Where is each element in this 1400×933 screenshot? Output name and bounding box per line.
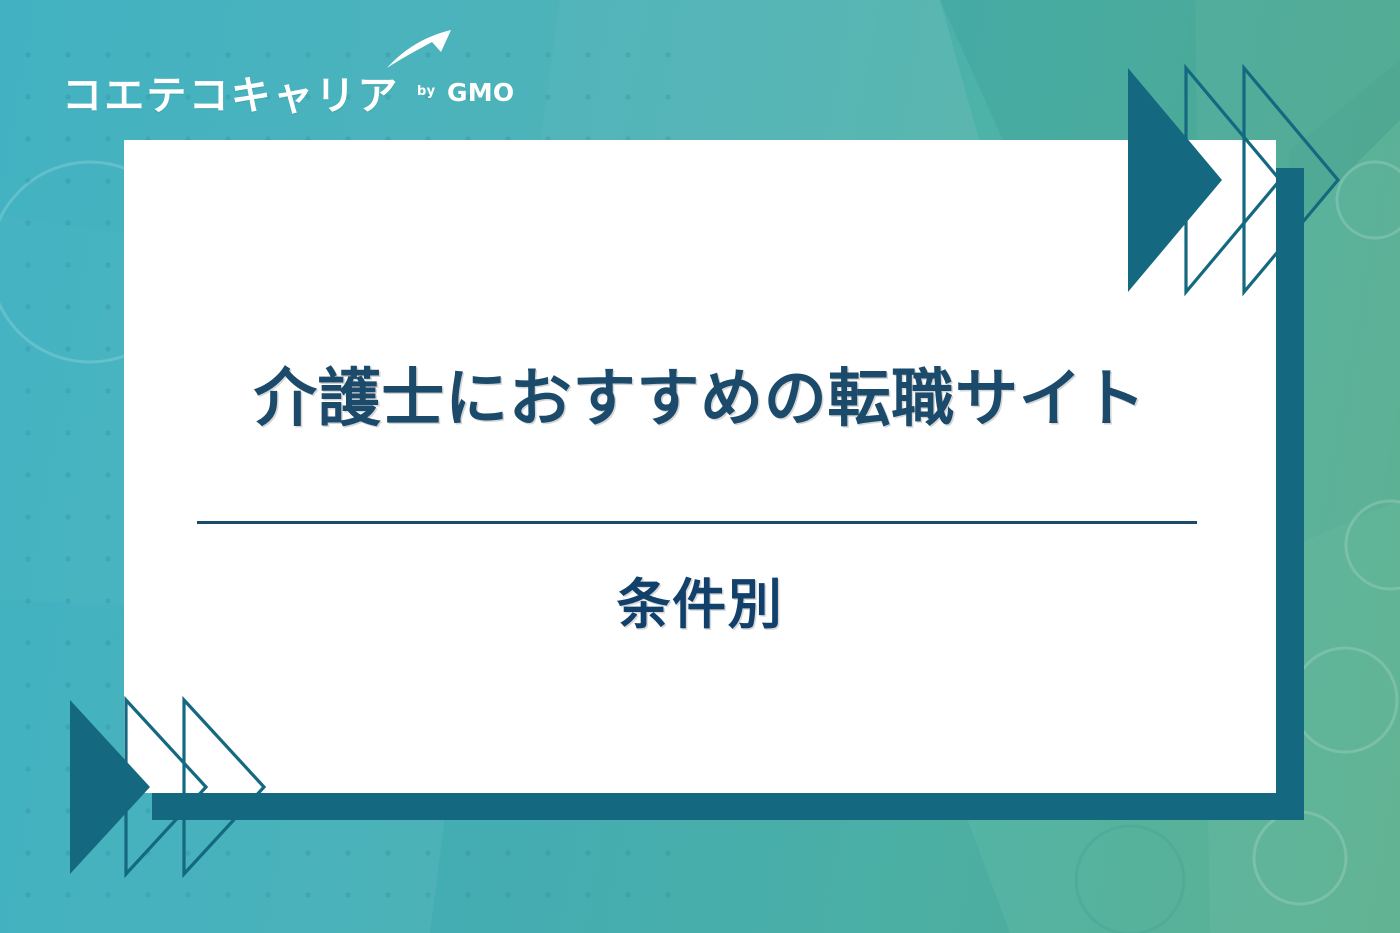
triangle-outline-far-icon xyxy=(1244,68,1338,292)
logo-by-label: by xyxy=(417,84,435,99)
triangles-top-right xyxy=(1128,68,1378,348)
content-card xyxy=(124,140,1276,793)
triangle-solid-icon xyxy=(70,700,150,874)
title-divider xyxy=(197,521,1197,524)
triangle-solid-icon xyxy=(1128,68,1222,292)
logo-company-label: GMO xyxy=(447,78,514,107)
banner-canvas: コエテコキャリア by GMO 介護士におすすめの転職サイト 条件別 xyxy=(0,0,1400,933)
triangle-outline-far-icon xyxy=(184,700,264,874)
arrow-up-right-swoosh-icon xyxy=(385,28,455,74)
page-title: 介護士におすすめの転職サイト xyxy=(124,366,1276,433)
logo-wordmark: コエテコキャリア xyxy=(62,76,400,116)
triangles-bottom-left xyxy=(58,700,308,880)
page-subtitle: 条件別 xyxy=(124,576,1276,633)
